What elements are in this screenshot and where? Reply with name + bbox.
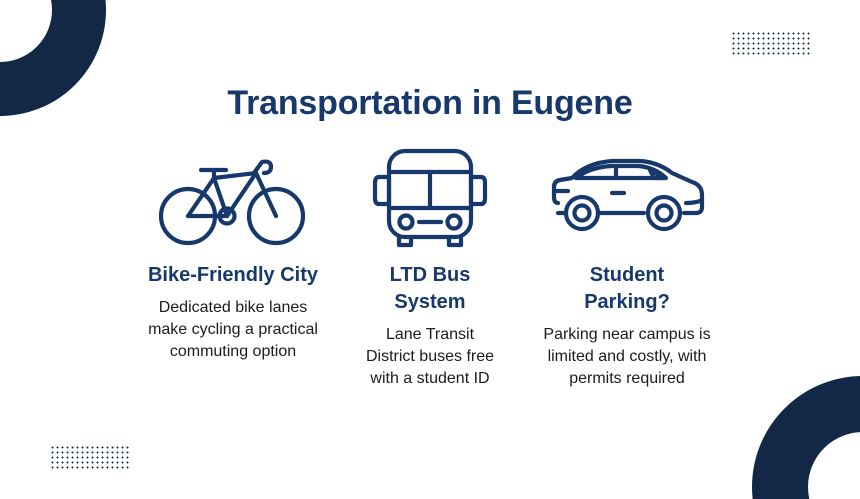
page-title: Transportation in Eugene — [0, 81, 860, 125]
decorative-ring-bottom-right — [752, 376, 860, 499]
feature-heading: Student Parking? — [557, 262, 697, 316]
feature-column-car: Student Parking? Parking near campus is … — [534, 148, 720, 390]
feature-body: Dedicated bike lanes make cycling a prac… — [143, 297, 323, 363]
decorative-dot-grid-bottom-left — [50, 445, 130, 471]
feature-body: Lane Transit District buses free with a … — [360, 324, 500, 390]
slide-canvas: Transportation in Eugene — [0, 0, 860, 499]
decorative-dot-grid-top-right — [731, 31, 811, 57]
feature-column-bike: Bike-Friendly City Dedicated bike lanes … — [140, 148, 326, 363]
feature-body: Parking near campus is limited and costl… — [535, 324, 720, 390]
bus-icon — [365, 148, 495, 248]
feature-heading: LTD Bus System — [370, 262, 490, 316]
car-icon — [546, 148, 708, 248]
feature-column-bus: LTD Bus System Lane Transit District bus… — [337, 148, 523, 390]
feature-columns: Bike-Friendly City Dedicated bike lanes … — [140, 148, 720, 390]
feature-heading: Bike-Friendly City — [147, 262, 319, 289]
bicycle-icon — [158, 148, 308, 248]
